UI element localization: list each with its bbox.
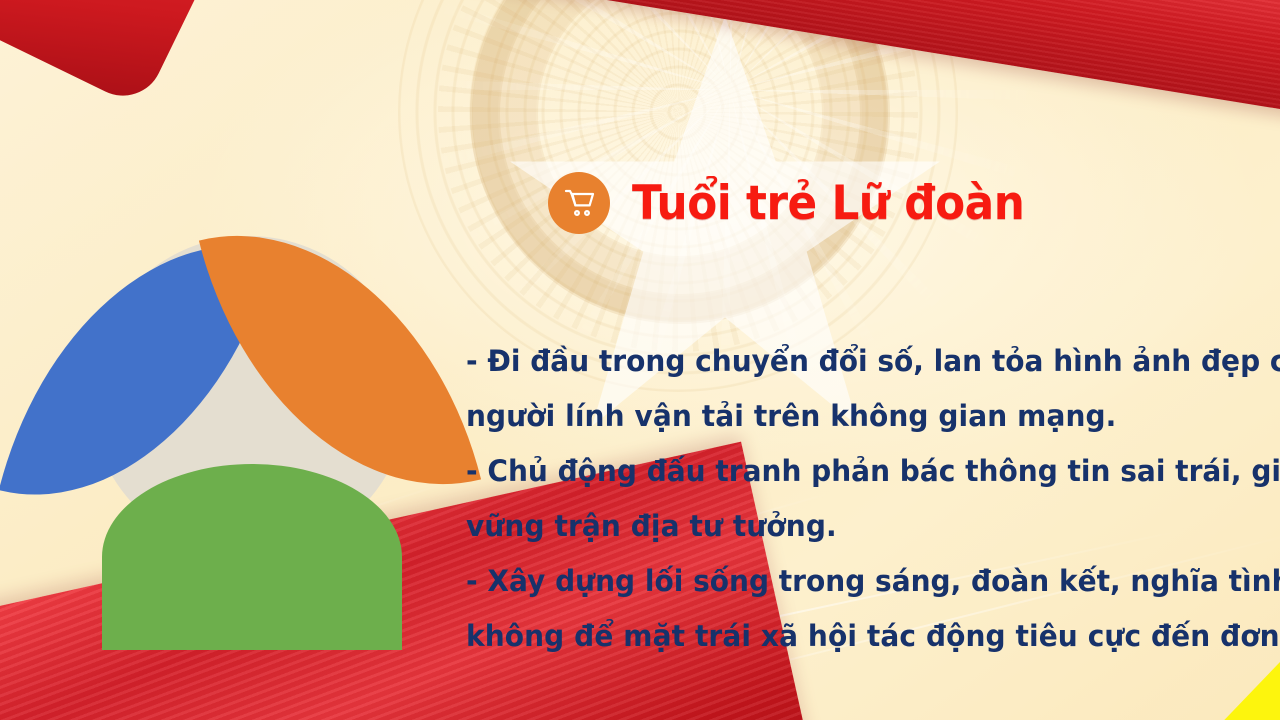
bullet-3-line-1: - Xây dựng lối sống trong sáng, đoàn kết…: [466, 554, 1224, 609]
bullet-list: - Đi đầu trong chuyển đổi số, lan tỏa hì…: [466, 334, 1264, 664]
shopping-cart-icon: [562, 188, 596, 218]
yellow-corner-triangle: [1222, 662, 1280, 720]
shopping-cart-badge: [548, 172, 610, 234]
page-title: Tuổi trẻ Lữ đoàn: [632, 180, 1024, 227]
bullet-2-line-2: vững trận địa tư tưởng.: [466, 499, 1224, 554]
slide-header: Tuổi trẻ Lữ đoàn: [548, 172, 1054, 234]
bullet-1-line-2: người lính vận tải trên không gian mạng.: [466, 389, 1224, 444]
emblem-petal-green: [102, 464, 402, 650]
bullet-2-line-1: - Chủ động đấu tranh phản bác thông tin …: [466, 444, 1224, 499]
tri-petal-emblem: [36, 196, 448, 636]
bullet-3-line-2: không để mặt trái xã hội tác động tiêu c…: [466, 609, 1224, 664]
bullet-1-line-1: - Đi đầu trong chuyển đổi số, lan tỏa hì…: [466, 334, 1224, 389]
slide-canvas: Tuổi trẻ Lữ đoàn - Đi đầu trong chuyển đ…: [0, 0, 1280, 720]
red-ribbon-top-left: [0, 0, 255, 109]
